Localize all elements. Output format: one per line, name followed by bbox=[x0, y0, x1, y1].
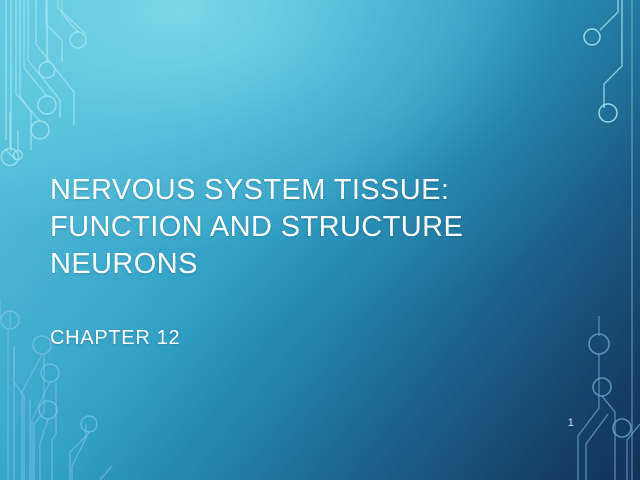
title-slide: Nervous System Tissue: Function and Stru… bbox=[0, 0, 640, 480]
slide-subtitle[interactable]: Chapter 12 bbox=[50, 283, 580, 350]
page-title[interactable]: Nervous System Tissue: Function and Stru… bbox=[50, 172, 580, 283]
slide-number: 1 bbox=[560, 417, 582, 429]
title-text-block: Nervous System Tissue: Function and Stru… bbox=[50, 172, 580, 350]
